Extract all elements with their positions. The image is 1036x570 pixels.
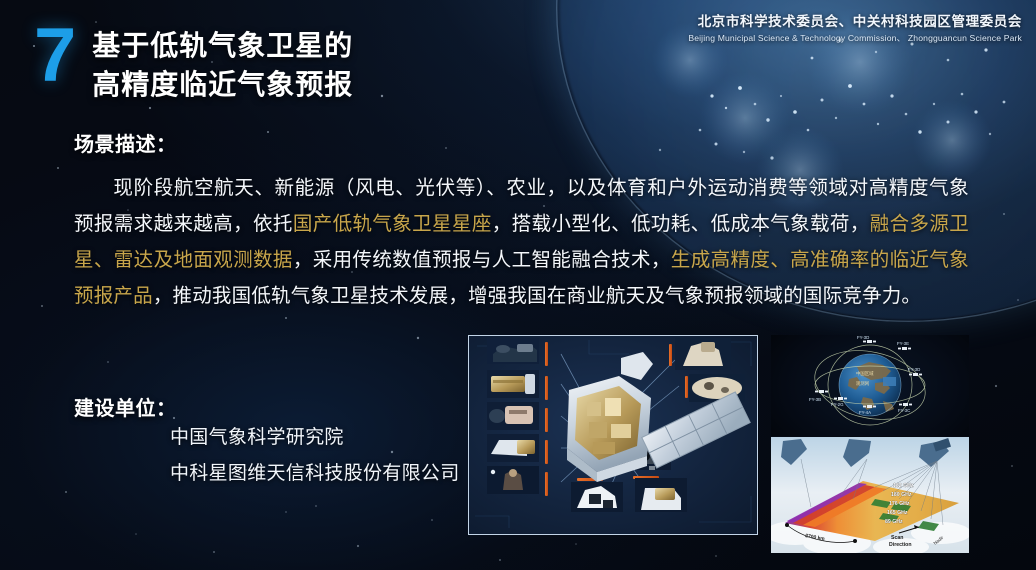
- title-lines: 基于低轨气象卫星的 高精度临近气象预报: [92, 18, 353, 104]
- svg-text:Scan: Scan: [891, 535, 903, 541]
- scene-highlight-1: 国产低轨气象卫星星座: [293, 213, 492, 235]
- list-item: 中科星图维天信科技股份有限公司: [170, 456, 460, 492]
- scene-description-label: 场景描述：: [74, 128, 177, 157]
- slide-canvas: 北京市科学技术委员会、中关村科技园区管理委员会 Beijing Municipa…: [0, 0, 1036, 570]
- svg-text:180 GHz: 180 GHz: [891, 492, 912, 498]
- svg-text:165 GHz: 165 GHz: [887, 510, 908, 516]
- scene-segment-2: ，搭载小型化、低功耗、低成本气象载荷，: [492, 213, 870, 235]
- header-organisation: 北京市科学技术委员会、中关村科技园区管理委员会 Beijing Municipa…: [688, 13, 1022, 45]
- org-name-en: Beijing Municipal Science & Technology C…: [688, 32, 1022, 45]
- svg-text:观测网: 观测网: [856, 380, 870, 387]
- build-unit-list: 中国气象科学研究院 中科星图维天信科技股份有限公司: [170, 420, 460, 492]
- svg-text:FY-4A: FY-4A: [859, 410, 871, 415]
- swath-scan-diagram-icon: 182 GHz 180 GHz 176 GHz 165 GHz 89 GHz S…: [771, 437, 969, 553]
- svg-text:FY-3C: FY-3C: [898, 408, 910, 413]
- org-name-cn: 北京市科学技术委员会、中关村科技园区管理委员会: [688, 13, 1022, 30]
- scene-segment-4: ，推动我国低轨气象卫星技术发展，增强我国在商业航天及气象预报领域的国际竞争力。: [153, 285, 921, 307]
- build-unit-label: 建设单位：: [74, 392, 177, 421]
- svg-text:FY-3B: FY-3B: [809, 397, 821, 402]
- scene-description-text: 现阶段航空航天、新能源（风电、光伏等）、农业，以及体育和户外运动消费等领域对高精…: [74, 170, 969, 314]
- svg-text:176 GHz: 176 GHz: [889, 501, 910, 507]
- page-title: 7 基于低轨气象卫星的 高精度临近气象预报: [34, 18, 353, 104]
- svg-text:Direction: Direction: [889, 542, 911, 548]
- list-item: 中国气象科学研究院: [170, 420, 460, 456]
- title-line-2: 高精度临近气象预报: [92, 65, 353, 104]
- satellite-payload-diagram-icon: [469, 336, 757, 534]
- svg-text:FY-3D: FY-3D: [857, 335, 869, 340]
- svg-text:182 GHz: 182 GHz: [893, 483, 914, 489]
- svg-text:FY-2G: FY-2G: [831, 402, 844, 407]
- svg-text:FY-3D: FY-3D: [908, 367, 920, 372]
- microwave-swath-figure: 182 GHz 180 GHz 176 GHz 165 GHz 89 GHz S…: [771, 437, 969, 553]
- svg-text:89 GHz: 89 GHz: [885, 519, 903, 525]
- svg-text:中国区域: 中国区域: [856, 370, 874, 377]
- slide-number: 7: [34, 20, 76, 92]
- scene-segment-3: ，采用传统数值预报与人工智能融合技术，: [293, 249, 671, 271]
- satellite-constellation-figure: FY-3D FY-3E FY-3B FY-2G FY-4A FY-3C FY-3…: [771, 335, 969, 436]
- globe-orbit-diagram-icon: FY-3D FY-3E FY-3B FY-2G FY-4A FY-3C FY-3…: [771, 335, 969, 436]
- svg-text:FY-3E: FY-3E: [897, 341, 909, 346]
- title-line-1: 基于低轨气象卫星的: [92, 26, 353, 65]
- satellite-payload-figure: [468, 335, 758, 535]
